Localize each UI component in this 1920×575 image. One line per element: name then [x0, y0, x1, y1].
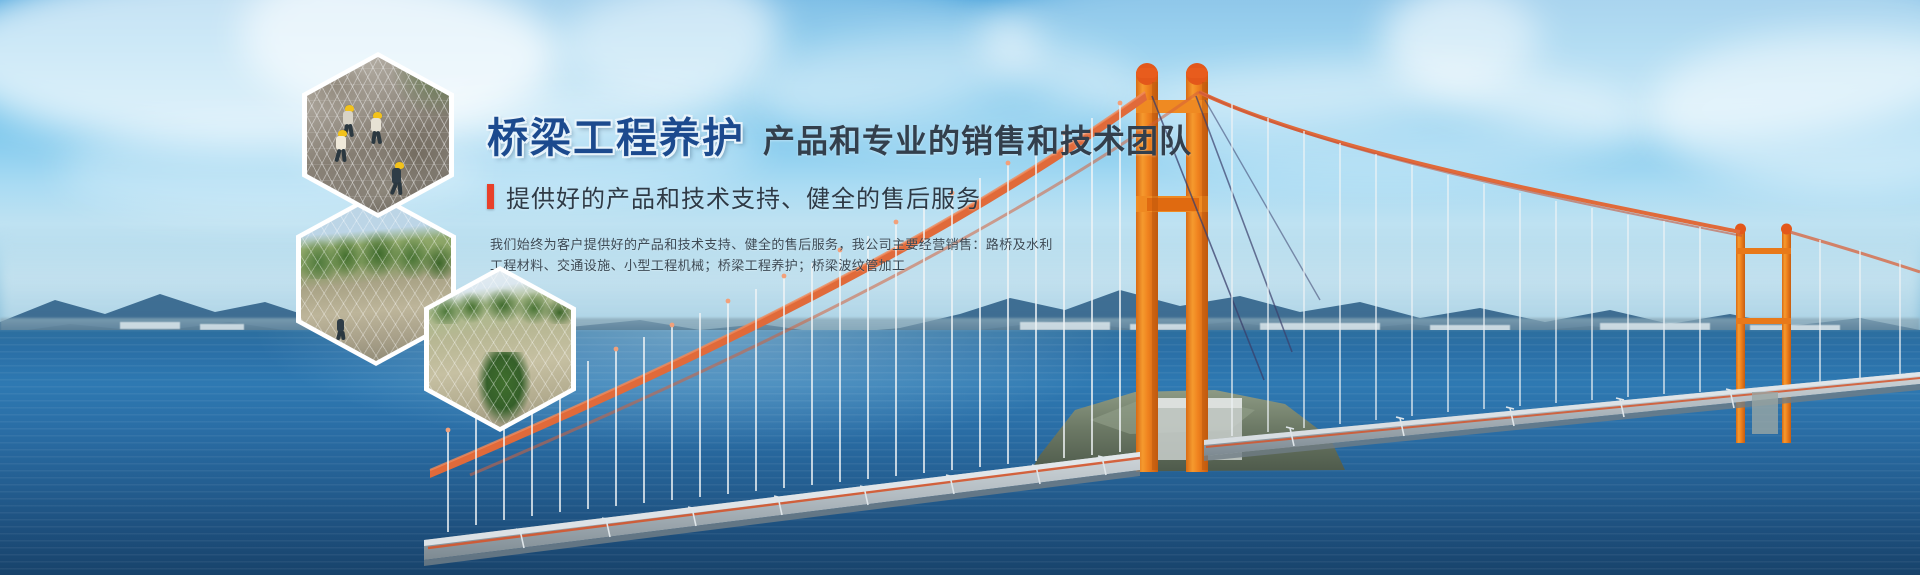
body-copy: 我们始终为客户提供好的产品和技术支持、健全的售后服务，我公司主要经营销售：路桥及…: [490, 234, 1080, 276]
hex-photo-slope-mesh-tree[interactable]: [424, 266, 576, 432]
town-building: [120, 322, 180, 329]
town-building: [1260, 323, 1380, 330]
sea-background: [0, 330, 1920, 575]
subtitle-row: 提供好的产品和技术支持、健全的售后服务: [487, 179, 1247, 214]
headline-row: 桥梁工程养护 产品和专业的销售和技术团队: [487, 118, 1247, 159]
wire-mesh-overlay: [429, 271, 571, 427]
hero-banner: 桥梁工程养护 产品和专业的销售和技术团队 提供好的产品和技术支持、健全的售后服务…: [0, 0, 1920, 575]
body-copy-line-1: 我们始终为客户提供好的产品和技术支持、健全的售后服务，我公司主要经营销售：路桥及…: [490, 234, 1080, 255]
hex-photo-inner: [429, 271, 571, 427]
town-building: [1020, 322, 1110, 330]
hex-photo-rock-slope-netting-crew[interactable]: [302, 52, 454, 218]
hex-photo-inner: [307, 57, 449, 213]
banner-copy: 桥梁工程养护 产品和专业的销售和技术团队 提供好的产品和技术支持、健全的售后服务…: [487, 118, 1247, 276]
subtitle-text: 提供好的产品和技术支持、健全的售后服务: [506, 179, 981, 214]
headline-main: 桥梁工程养护: [487, 118, 745, 159]
town-building: [1600, 323, 1710, 330]
accent-bar: [487, 184, 494, 209]
sea-shimmer: [0, 330, 1920, 575]
body-copy-line-2: 工程材料、交通设施、小型工程机械；桥梁工程养护；桥梁波纹管加工: [490, 255, 1080, 276]
headline-sub: 产品和专业的销售和技术团队: [763, 125, 1192, 157]
